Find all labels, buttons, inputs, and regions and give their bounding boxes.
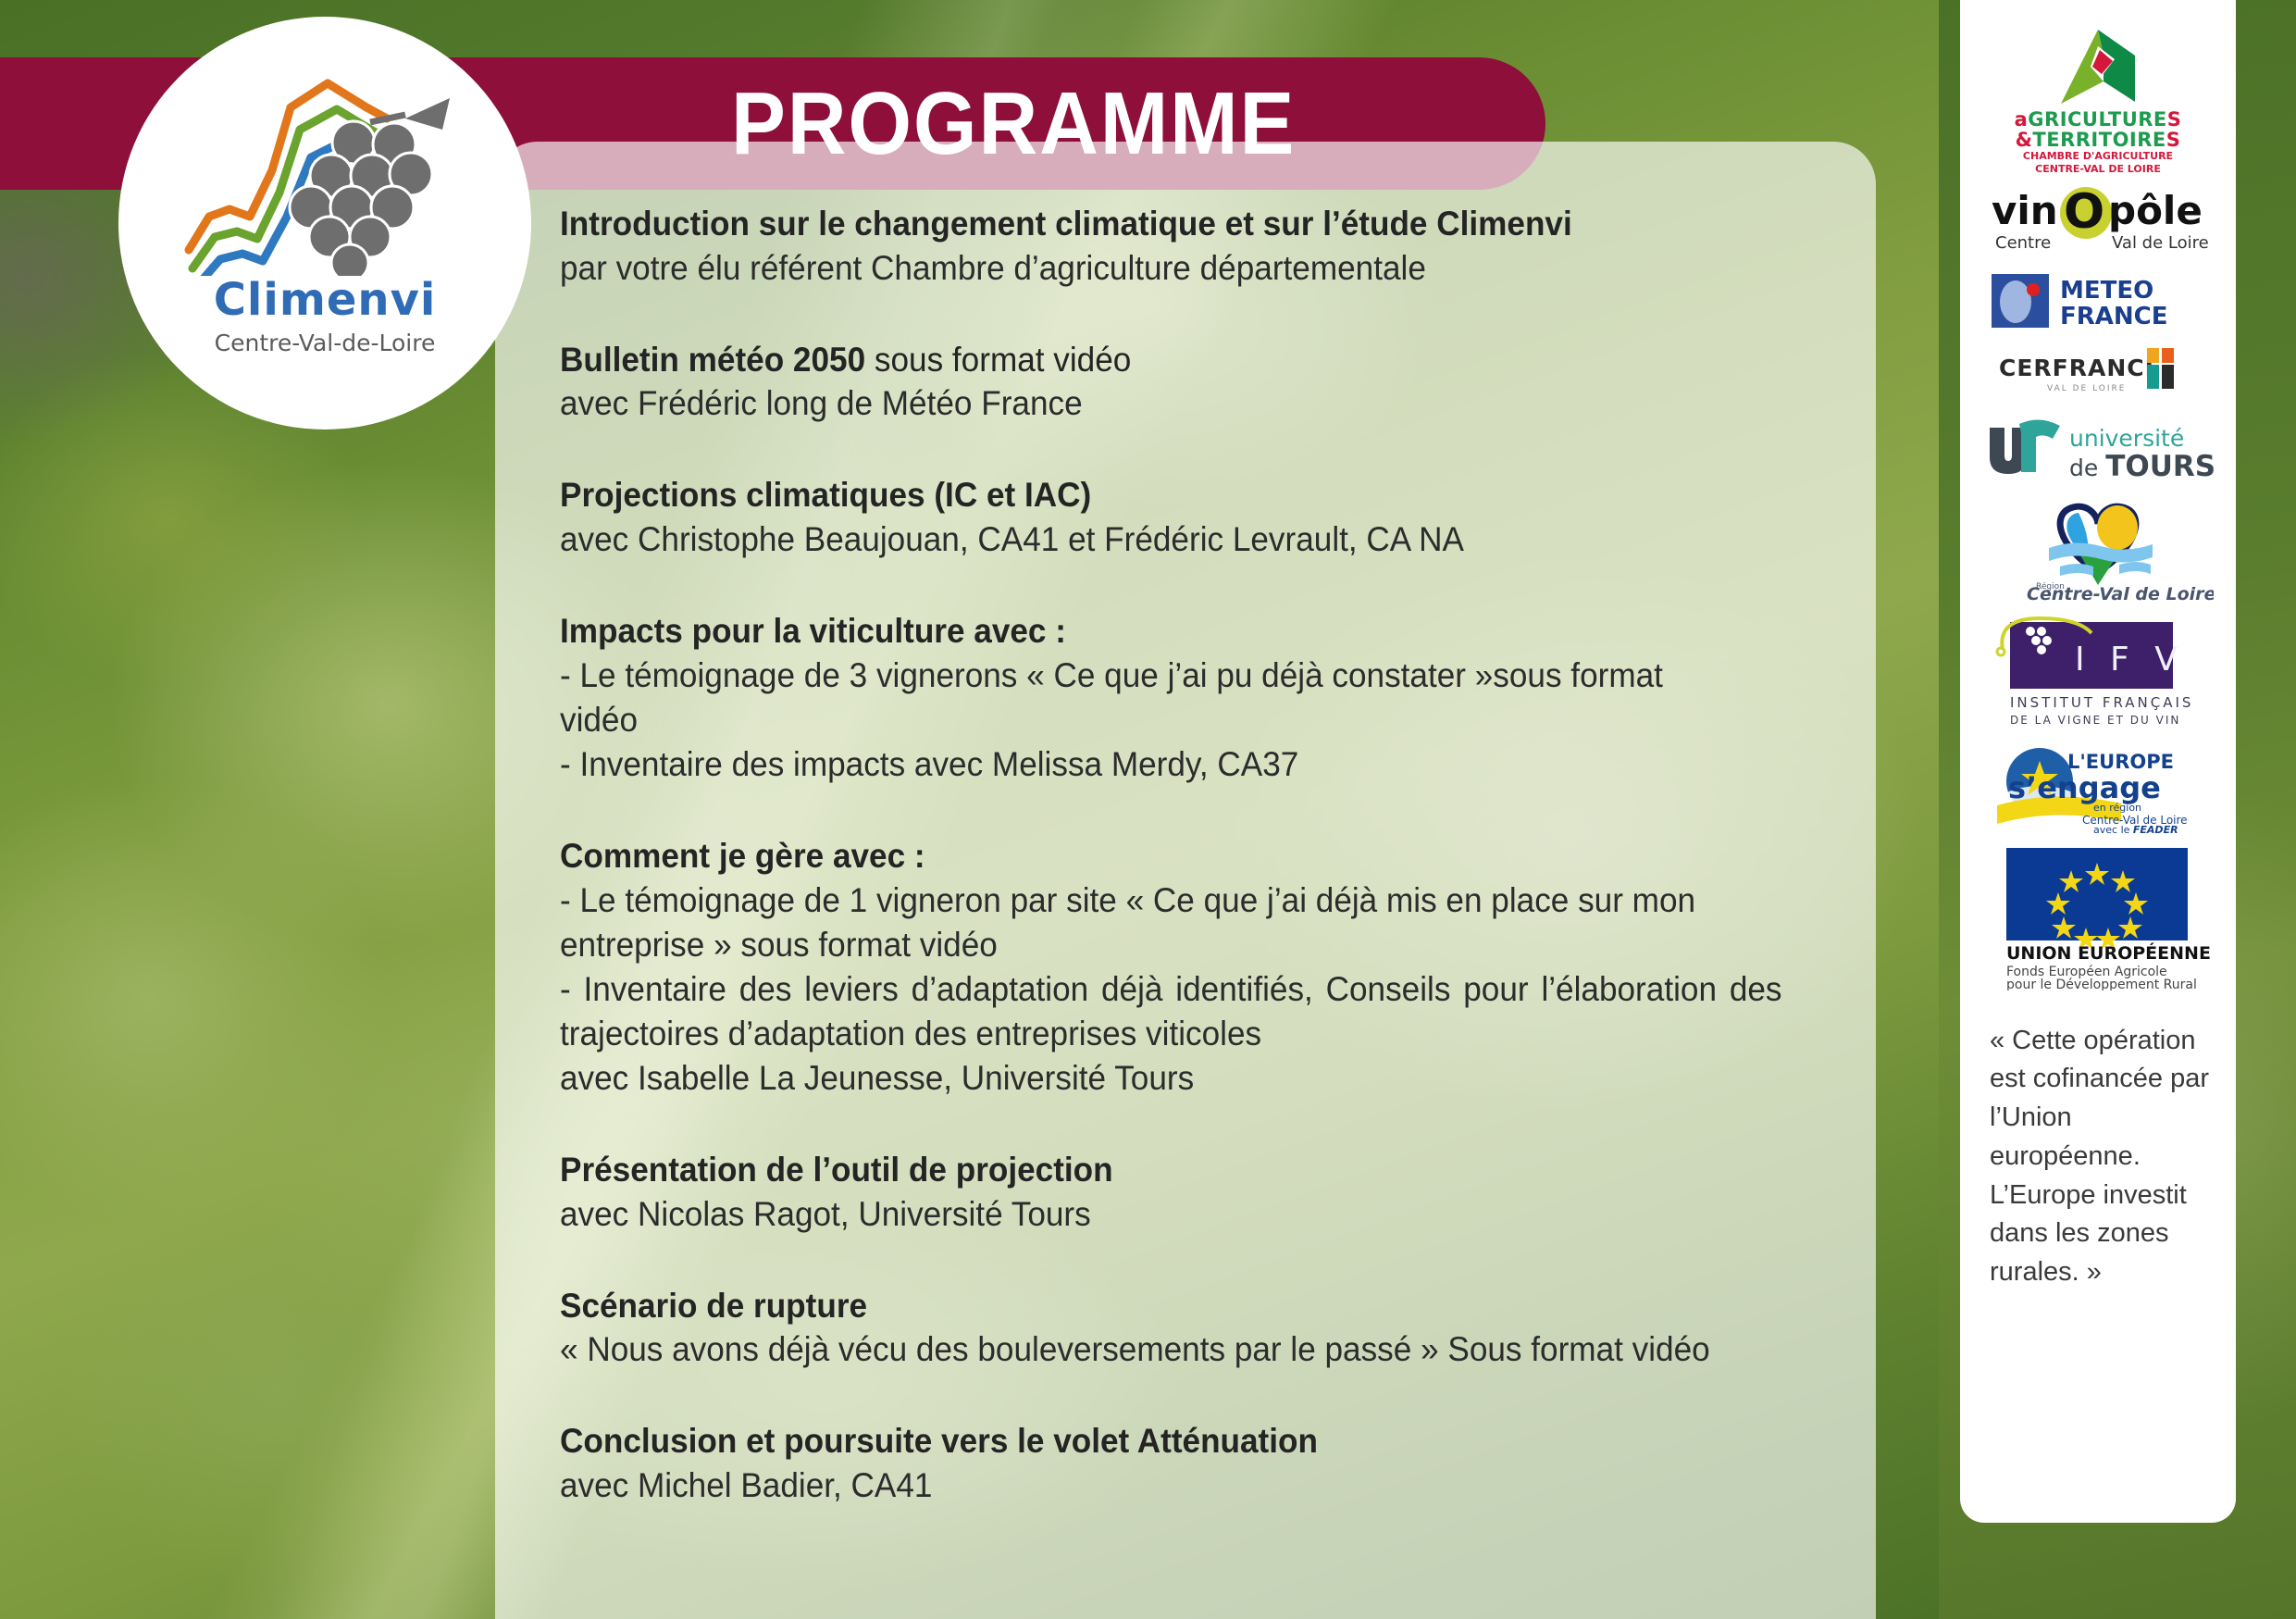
svg-text:INSTITUT FRANÇAIS: INSTITUT FRANÇAIS [2010,694,2193,711]
funding-note: « Cette opération est cofinancée par l’U… [1969,1022,2227,1292]
logo-text-main: aGRICULTURES [2015,109,2182,130]
partner-logos-sidebar: aGRICULTURES &TERRITOIRES CHAMBRE D'AGRI… [1960,0,2236,1523]
block-title: Projections climatiques (IC et IAC) [560,474,1747,517]
svg-text:Val de Loire: Val de Loire [2112,233,2209,253]
block-line: par votre élu référent Chambre d’agricul… [560,246,1747,291]
programme-block: Scénario de rupture « Nous avons déjà vé… [560,1285,1809,1373]
programme-block: Présentation de l’outil de projection av… [560,1149,1809,1237]
svg-text:VAL DE LOIRE: VAL DE LOIRE [2047,384,2126,393]
svg-text:pôle: pôle [2108,188,2203,233]
block-line: - Inventaire des leviers d’adaptation dé… [560,967,1782,1056]
block-line: - Le témoignage de 1 vigneron par site «… [560,878,1747,967]
universite-de-tours-icon: université de TOURS [1982,411,2214,483]
svg-text:université: université [2069,425,2184,452]
block-line: avec Isabelle La Jeunesse, Université To… [560,1056,1747,1101]
logo-leurope-sengage: L'EUROPE s’engage en région Centre-Val d… [1969,741,2227,833]
svg-text:s’engage: s’engage [2008,770,2161,805]
block-title: Introduction sur le changement climatiqu… [560,203,1747,246]
logo-vinopole: vin O pôle Centre Val de Loire [1969,185,2227,257]
block-line: - Le témoignage de 3 vignerons « Ce que … [560,654,1747,742]
vinopole-icon: vin O pôle Centre Val de Loire [1982,185,2214,257]
logo-region-centre-val-de-loire: Région Centre-Val de Loire [1969,492,2227,604]
union-europeenne-flag-icon: UNION EUROPÉENNE Fonds Européen Agricole… [1982,842,2214,990]
block-title: Comment je gère avec : [560,835,1747,878]
logo-text-sub2: CENTRE-VAL DE LOIRE [2035,163,2161,176]
svg-text:CERFRANCE: CERFRANCE [1999,355,2162,381]
block-title: Impacts pour la viticulture avec : [560,610,1747,654]
programme-block: Comment je gère avec : - Le témoignage d… [560,835,1809,1101]
svg-text:de TOURS: de TOURS [2069,450,2214,483]
svg-text:Centre: Centre [1995,233,2051,253]
logo-chambre-agriculture: aGRICULTURES &TERRITOIRES CHAMBRE D'AGRI… [1969,24,2227,176]
agricultures-territoires-icon [2046,24,2150,109]
block-line: - Inventaire des impacts avec Melissa Me… [560,742,1747,787]
svg-text:DE LA VIGNE ET DU VIN: DE LA VIGNE ET DU VIN [2010,714,2180,727]
logo-cerfrance: CERFRANCE VAL DE LOIRE [1969,344,2227,402]
block-line: avec Nicolas Ragot, Université Tours [560,1192,1747,1237]
block-line: avec Christophe Beaujouan, CA41 et Frédé… [560,517,1747,562]
block-title-tail: sous format vidéo [865,341,1131,379]
logo-text-secondary: &TERRITOIRES [2016,130,2181,150]
cerfrance-icon: CERFRANCE VAL DE LOIRE [1982,344,2214,402]
climenvi-logo-name: Climenvi [172,274,478,326]
svg-text:pour le Développement Rural: pour le Développement Rural [2006,978,2197,990]
programme-block: Impacts pour la viticulture avec : - Le … [560,610,1809,787]
block-line: « Nous avons déjà vécu des bouleversemen… [560,1327,1782,1372]
block-line: avec Michel Badier, CA41 [560,1463,1747,1508]
svg-text:UNION EUROPÉENNE: UNION EUROPÉENNE [2006,942,2211,964]
svg-text:METEO: METEO [2060,277,2153,305]
meteo-france-icon: METEO FRANCE [1982,267,2214,335]
programme-block: Projections climatiques (IC et IAC) avec… [560,474,1809,562]
ifv-icon: I F V INSTITUT FRANÇAIS DE LA VIGNE ET D… [1982,613,2214,731]
programme-block: Conclusion et poursuite vers le volet At… [560,1420,1809,1508]
block-title: Conclusion et poursuite vers le volet At… [560,1420,1747,1463]
svg-text:I F V: I F V [2075,641,2185,679]
programme-panel: Introduction sur le changement climatiqu… [495,142,1876,1619]
programme-block: Bulletin météo 2050 sous format vidéo av… [560,339,1809,427]
svg-text:FRANCE: FRANCE [2060,303,2168,330]
climenvi-logo-subtitle: Centre-Val-de-Loire [172,330,478,356]
svg-text:vin: vin [1992,188,2058,233]
block-line: avec Frédéric long de Météo France [560,381,1747,426]
logo-ifv: I F V INSTITUT FRANÇAIS DE LA VIGNE ET D… [1969,613,2227,731]
block-title: Scénario de rupture [560,1285,1747,1328]
block-title-bold: Bulletin météo 2050 [560,341,865,379]
climenvi-logo: Climenvi Centre-Val-de-Loire [118,17,531,430]
programme-block: Introduction sur le changement climatiqu… [560,203,1809,291]
svg-text:avec le FEADER: avec le FEADER [2093,824,2178,833]
svg-text:Centre-Val de Loire: Centre-Val de Loire [2027,584,2214,604]
leurope-sengage-icon: L'EUROPE s’engage en région Centre-Val d… [1982,741,2214,833]
logo-union-europeenne: UNION EUROPÉENNE Fonds Européen Agricole… [1969,842,2227,990]
climenvi-graphic-icon [172,54,478,276]
poster-root: PROGRAMME [0,0,2296,1619]
svg-text:O: O [2064,185,2104,240]
block-title: Bulletin météo 2050 sous format vidéo [560,339,1747,382]
logo-text-sub1: CHAMBRE D'AGRICULTURE [2023,150,2173,163]
logo-meteo-france: METEO FRANCE [1969,267,2227,335]
svg-text:en région: en région [2093,802,2141,814]
block-title: Présentation de l’outil de projection [560,1149,1747,1192]
logo-universite-de-tours: université de TOURS [1969,411,2227,483]
region-centre-val-de-loire-icon: Région Centre-Val de Loire [1982,492,2214,604]
